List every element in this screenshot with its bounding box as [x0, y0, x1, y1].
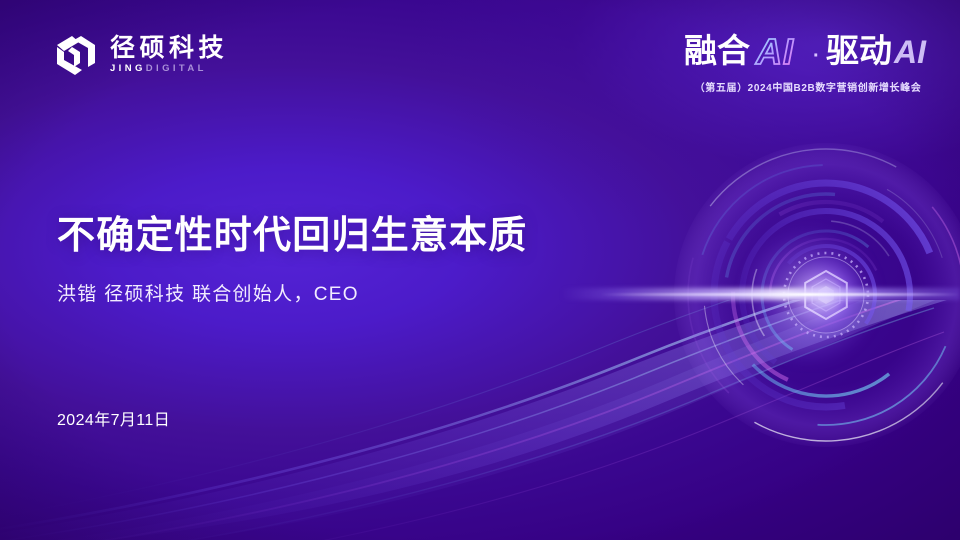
logo-name-en: JINGDIGITAL — [110, 64, 228, 74]
conf-title-ai-right: AI — [893, 34, 927, 70]
conference-branding: 融合 AI · 驱动 AI （第五届）2024中国B2B数字营销创新增长峰会 — [684, 28, 932, 94]
conf-title-middle-cn: 驱动 — [826, 32, 892, 69]
slide-headline: 不确定性时代回归生意本质 — [57, 215, 527, 258]
conference-title-logo: 融合 AI · 驱动 AI — [684, 28, 932, 74]
jingdigital-cube-logo-icon — [55, 33, 97, 77]
logo-wordmark: 径硕科技 JINGDIGITAL — [110, 36, 228, 74]
logo-name-en-bright: JING — [110, 63, 146, 74]
company-logo-lockup[interactable]: 径硕科技 JINGDIGITAL — [55, 33, 228, 77]
presentation-title-slide: 径硕科技 JINGDIGITAL 融合 AI · 驱动 AI （第五届）2024… — [0, 0, 960, 540]
presentation-date: 2024年7月11日 — [57, 411, 170, 432]
conf-title-separator: · — [813, 45, 820, 67]
speaker-byline: 洪锴 径硕科技 联合创始人，CEO — [57, 283, 359, 308]
logo-name-en-dim: DIGITAL — [146, 63, 207, 74]
conf-title-prefix-cn: 融合 — [684, 32, 750, 69]
logo-name-cn: 径硕科技 — [110, 36, 228, 61]
conf-title-ai-left: AI — [755, 31, 794, 72]
conference-subtitle: （第五届）2024中国B2B数字营销创新增长峰会 — [684, 79, 932, 94]
